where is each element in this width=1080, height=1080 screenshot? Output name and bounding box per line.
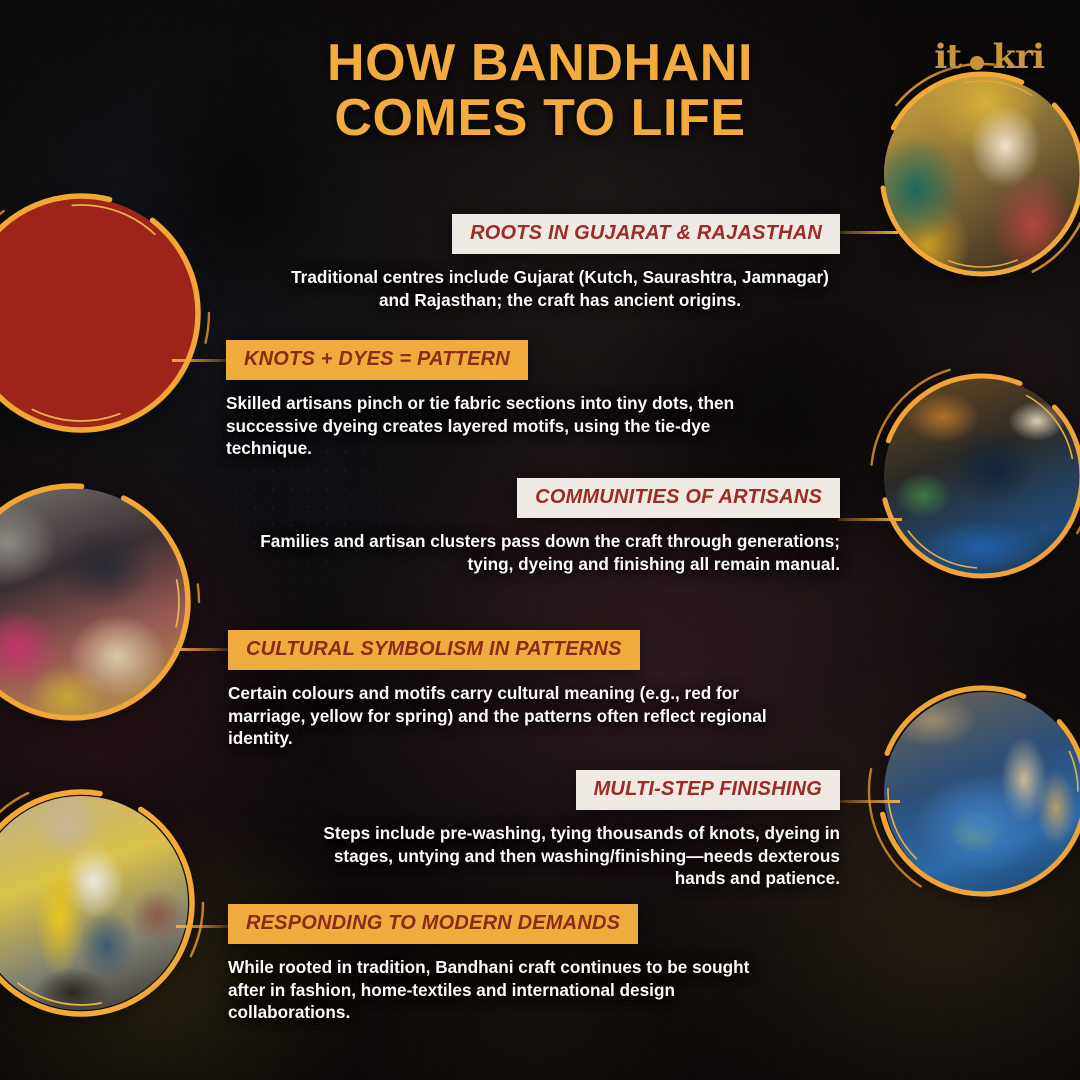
section-cultural-symbolism-heading[interactable]: CULTURAL SYMBOLISM IN PATTERNS <box>228 630 640 670</box>
section-multi-step-finishing: MULTI-STEP FINISHING Steps include pre-w… <box>300 770 840 890</box>
photo-hands-tying-red-image <box>0 198 196 428</box>
itokri-logo[interactable]: it kri <box>934 40 1044 74</box>
section-cultural-symbolism-body: Certain colours and motifs carry cultura… <box>228 682 780 750</box>
photo-hands-tying-red <box>0 198 196 428</box>
title-line-2: COMES TO LIFE <box>170 91 910 146</box>
photo-indigo-vat <box>884 692 1080 892</box>
photo-artisan-dyeing-vat <box>884 378 1080 574</box>
photo-indigo-vat-image <box>884 692 1080 892</box>
section-modern-demands: RESPONDING TO MODERN DEMANDS While roote… <box>228 904 808 1024</box>
connector-cultural <box>174 648 228 651</box>
logo-text-post: kri <box>993 37 1044 77</box>
section-multi-step-finishing-body: Steps include pre-washing, tying thousan… <box>300 822 840 890</box>
connector-finishing <box>838 800 900 803</box>
connector-roots <box>838 231 898 234</box>
section-modern-demands-body: While rooted in tradition, Bandhani craf… <box>228 956 776 1024</box>
title-line-1: HOW BANDHANI <box>170 36 910 91</box>
logo-text-pre: it <box>934 37 961 77</box>
section-multi-step-finishing-heading[interactable]: MULTI-STEP FINISHING <box>576 770 840 810</box>
connector-knots <box>172 359 228 362</box>
section-roots-body: Traditional centres include Gujarat (Kut… <box>230 266 840 311</box>
connector-modern <box>176 925 228 928</box>
infographic-poster: it kri HOW BANDHANI COMES TO LIFE <box>0 0 1080 1080</box>
section-cultural-symbolism: CULTURAL SYMBOLISM IN PATTERNS Certain c… <box>228 630 808 750</box>
section-knots-dyes-body: Skilled artisans pinch or tie fabric sec… <box>226 392 766 460</box>
section-roots: ROOTS IN GUJARAT & RAJASTHAN Traditional… <box>230 214 840 311</box>
section-roots-heading[interactable]: ROOTS IN GUJARAT & RAJASTHAN <box>452 214 840 254</box>
logo-dot-icon <box>970 56 984 70</box>
section-knots-dyes-heading[interactable]: KNOTS + DYES = PATTERN <box>226 340 528 380</box>
connector-communities <box>838 518 902 521</box>
poster-title: HOW BANDHANI COMES TO LIFE <box>0 36 1080 146</box>
photo-yellow-fabric-lift-image <box>0 796 188 1010</box>
photo-woman-seated-tying <box>0 488 186 716</box>
photo-artisan-dyeing-vat-image <box>884 378 1080 574</box>
photo-yellow-fabric-lift <box>0 796 188 1010</box>
section-communities: COMMUNITIES OF ARTISANS Families and art… <box>230 478 840 575</box>
section-knots-dyes: KNOTS + DYES = PATTERN Skilled artisans … <box>226 340 796 460</box>
section-modern-demands-heading[interactable]: RESPONDING TO MODERN DEMANDS <box>228 904 638 944</box>
photo-woman-seated-tying-image <box>0 488 186 716</box>
section-communities-body: Families and artisan clusters pass down … <box>230 530 840 575</box>
section-communities-heading[interactable]: COMMUNITIES OF ARTISANS <box>517 478 840 518</box>
